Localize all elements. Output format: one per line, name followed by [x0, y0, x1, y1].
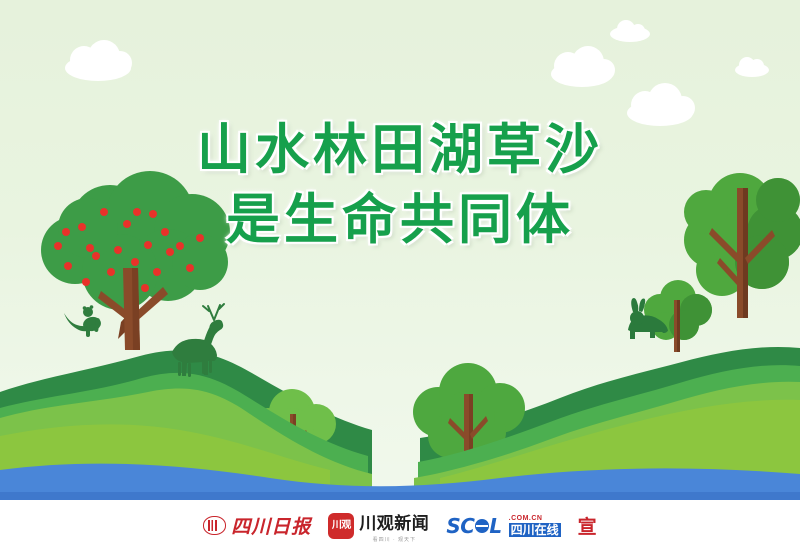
illustration-scene: 山水林田湖草沙 是生命共同体 [0, 0, 800, 500]
footer-logos: 四川日报 川观 川观新闻 看四川 · 观天下 SC L .COM.CN 四川在线… [0, 500, 800, 551]
poster-root: 山水林田湖草沙 是生命共同体 四川日报 川观 川观新闻 看四川 · 观天下 SC… [0, 0, 800, 551]
chuanguan-app-icon: 川观 [328, 513, 354, 539]
scol-wordmark: SC L [446, 514, 501, 538]
scol-globe-icon [475, 519, 489, 533]
logo-chuanguan-news: 川观 川观新闻 看四川 · 观天下 [328, 509, 429, 543]
chuanguan-news-name: 川观新闻 [359, 509, 429, 534]
suffix-xuan: 宣 [578, 512, 597, 539]
scol-domain: .COM.CN [509, 515, 561, 522]
scol-word-l: L [489, 514, 501, 538]
logo-scol: SC L .COM.CN 四川在线 [446, 514, 560, 538]
scol-cn-name: 四川在线 [509, 523, 561, 537]
chuanguan-news-tagline: 看四川 · 观天下 [373, 536, 416, 543]
logo-sichuan-daily: 四川日报 [203, 512, 311, 539]
sichuan-daily-name: 四川日报 [231, 512, 311, 539]
sichuan-daily-emblem-icon [203, 516, 226, 535]
river-water [0, 0, 800, 500]
scol-word-sc: SC [446, 514, 474, 538]
